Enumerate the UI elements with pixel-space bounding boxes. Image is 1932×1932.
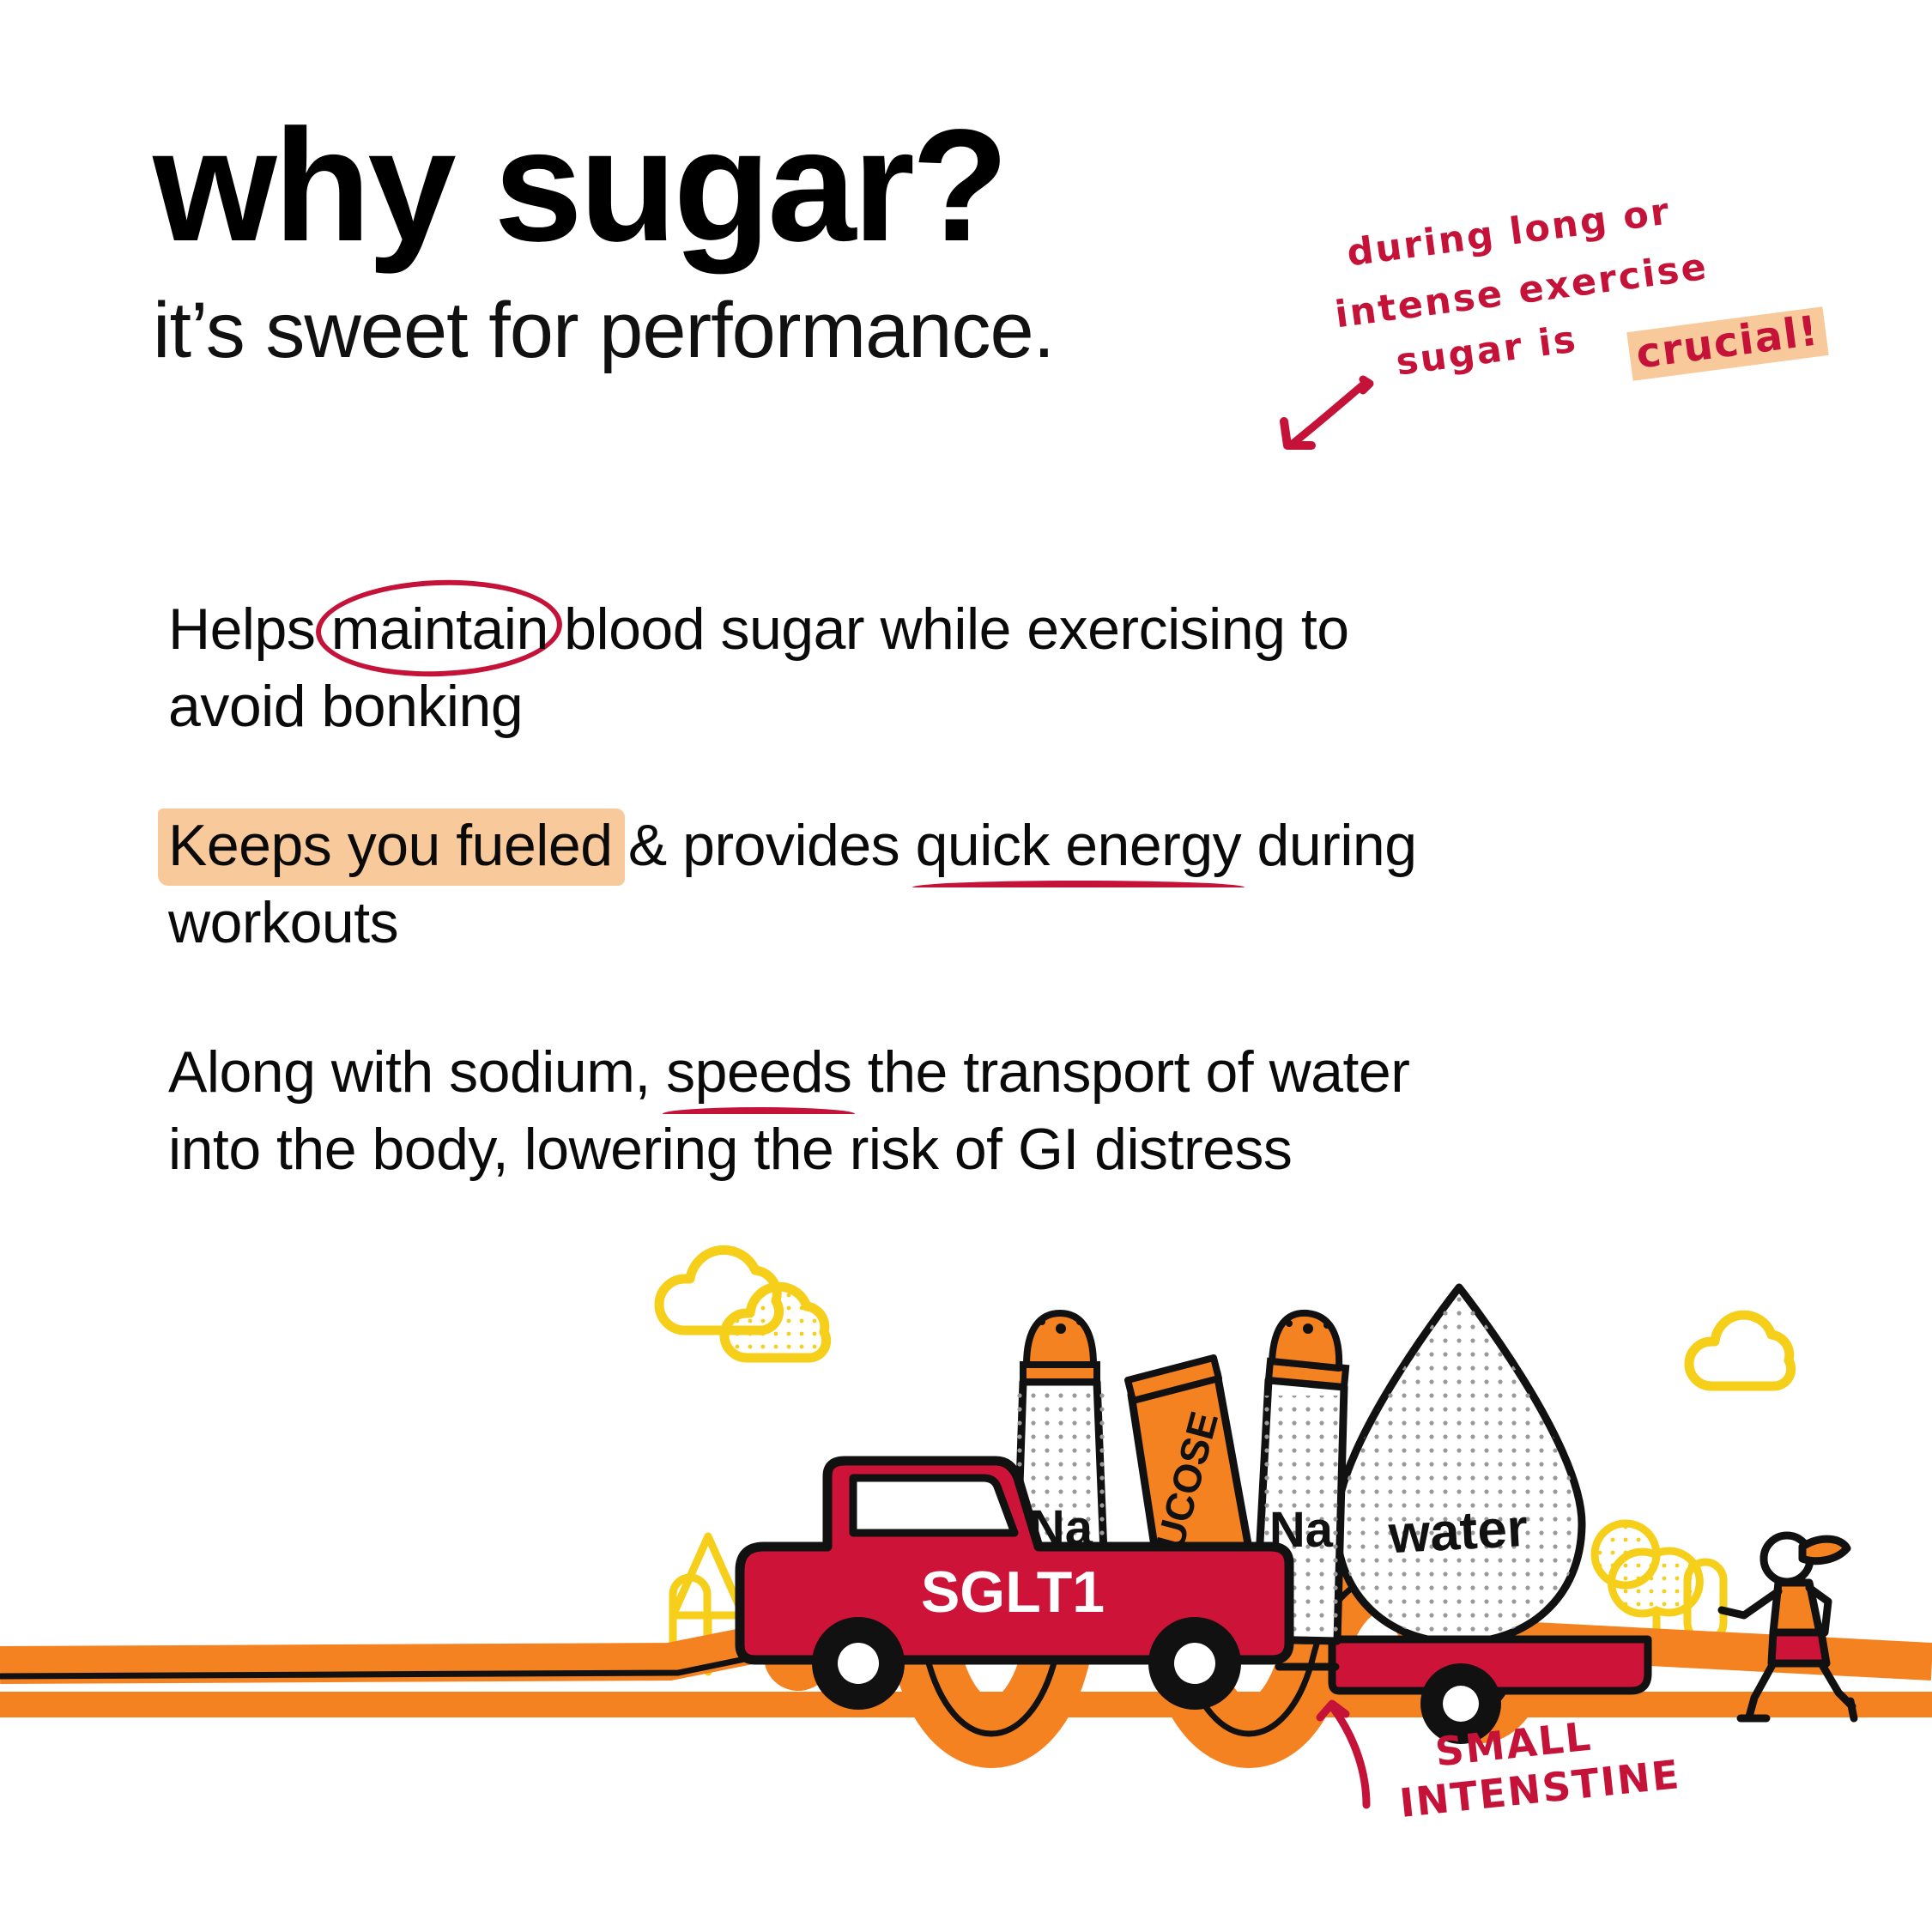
body-paragraph-2: Keeps you fueled & provides quick energy… xyxy=(168,807,1438,962)
illustration-scene: water Na GLUCOSE Na SGLT1 xyxy=(0,1227,1932,1811)
para2-middle: & provides xyxy=(613,813,916,878)
curved-arrow-up-icon xyxy=(1305,1678,1425,1815)
curved-arrow-down-left-icon xyxy=(1262,361,1451,490)
truck-window xyxy=(853,1478,1014,1533)
handwritten-note: during long or intense exercise sugar is… xyxy=(1339,203,1871,486)
shaker-cap-left xyxy=(1027,1313,1093,1365)
headline-block: why sugar? it’s sweet for performance. xyxy=(153,110,1286,372)
water-droplet-label: water xyxy=(1386,1499,1529,1565)
para3-before: Along with sodium, xyxy=(168,1039,666,1105)
body-paragraph-1: Helps maintain blood sugar while exercis… xyxy=(168,591,1438,746)
cloud-dotted-icon xyxy=(724,1287,827,1358)
cloud-right-icon xyxy=(1689,1315,1791,1386)
circled-word-maintain: maintain xyxy=(331,591,548,668)
shaker-cap-right xyxy=(1272,1313,1339,1368)
underlined-phrase-quick-energy: quick energy xyxy=(916,807,1242,884)
underlined-word-speeds: speeds xyxy=(666,1033,851,1111)
truck-label: SGLT1 xyxy=(921,1560,1105,1625)
handwritten-highlighted-word: crucial! xyxy=(1626,306,1828,381)
body-paragraph-3: Along with sodium, speeds the transport … xyxy=(168,1033,1438,1189)
highlighted-phrase-keeps-you-fueled: Keeps you fueled xyxy=(168,807,613,884)
runner-icon xyxy=(1722,1535,1854,1718)
page-subtitle: it’s sweet for performance. xyxy=(153,289,1286,372)
para1-before: Helps xyxy=(168,597,331,662)
page-title: why sugar? xyxy=(153,110,1286,263)
